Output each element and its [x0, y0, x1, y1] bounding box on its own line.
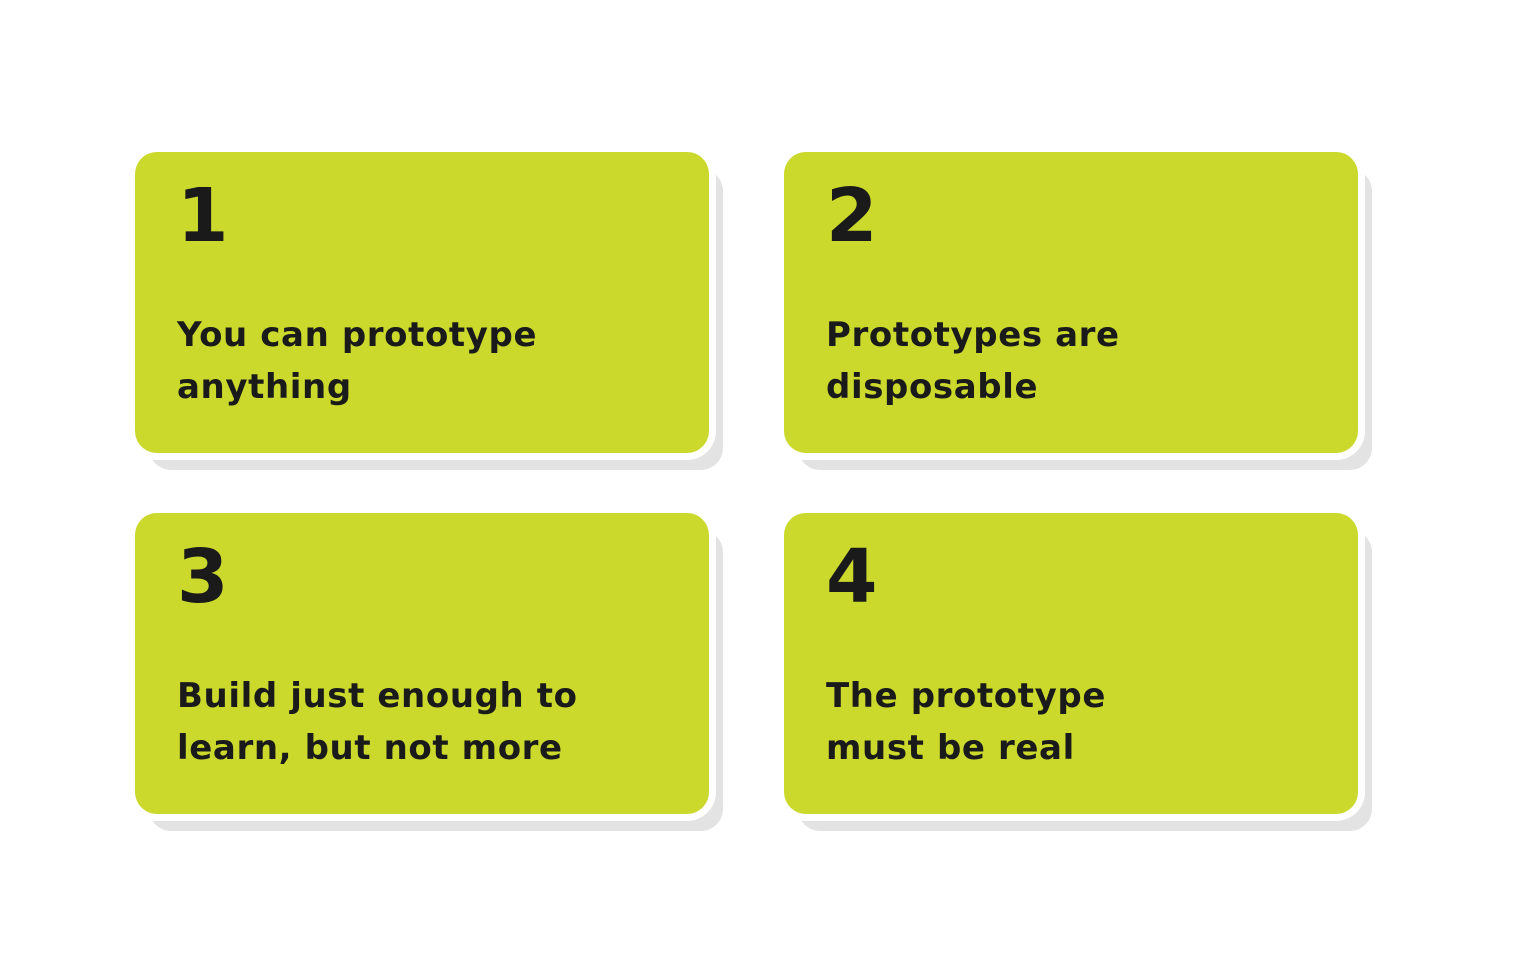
card-text: Prototypes are disposable: [826, 309, 1318, 427]
card-number: 2: [826, 182, 1318, 250]
card-face[interactable]: 3 Build just enough to learn, but not mo…: [135, 513, 709, 814]
card-face[interactable]: 1 You can prototype anything: [135, 152, 709, 453]
principle-card-grid: 1 You can prototype anything 2 Prototype…: [135, 152, 1375, 830]
card-face[interactable]: 2 Prototypes are disposable: [784, 152, 1358, 453]
principle-card-3[interactable]: 3 Build just enough to learn, but not mo…: [135, 513, 709, 814]
card-number: 1: [177, 182, 669, 250]
card-face[interactable]: 4 The prototype must be real: [784, 513, 1358, 814]
card-number: 3: [177, 543, 669, 611]
card-text: The prototype must be real: [826, 670, 1318, 788]
card-text: You can prototype anything: [177, 309, 669, 427]
card-number: 4: [826, 543, 1318, 611]
card-text: Build just enough to learn, but not more: [177, 670, 669, 788]
principle-card-1[interactable]: 1 You can prototype anything: [135, 152, 709, 453]
slide-canvas: 1 You can prototype anything 2 Prototype…: [0, 0, 1522, 955]
principle-card-4[interactable]: 4 The prototype must be real: [784, 513, 1358, 814]
principle-card-2[interactable]: 2 Prototypes are disposable: [784, 152, 1358, 453]
